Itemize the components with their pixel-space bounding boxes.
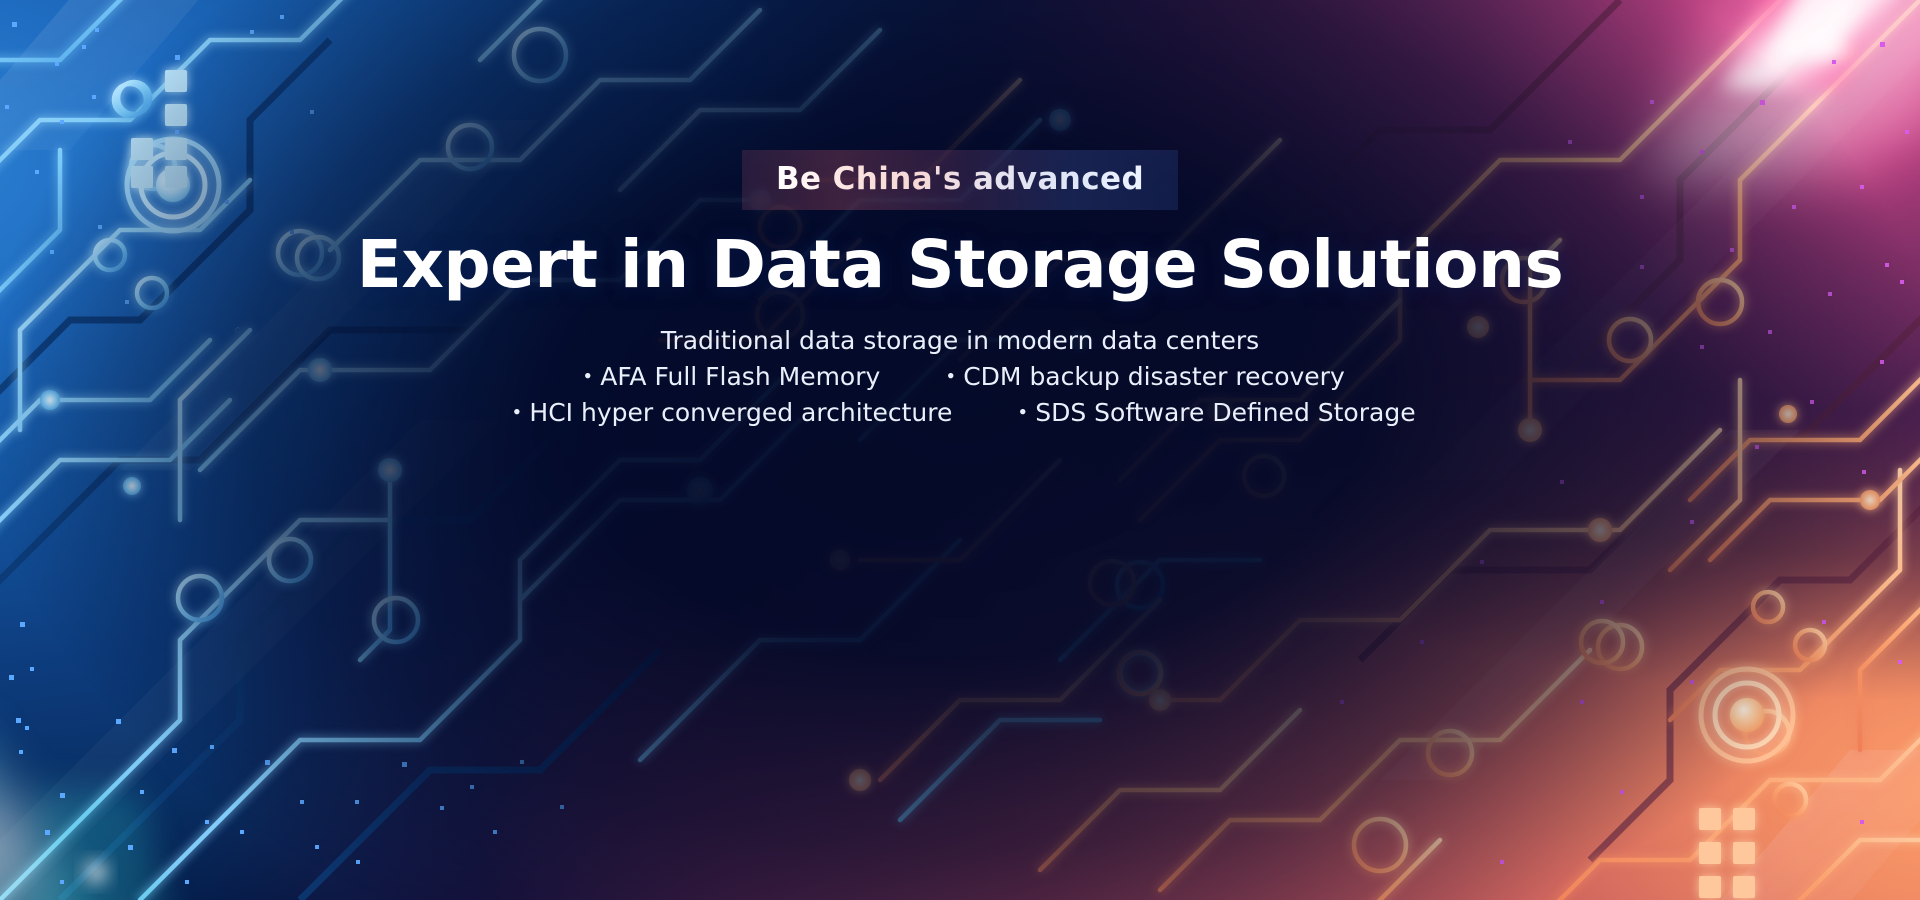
hero-content: Be China's advanced Expert in Data Stora… [0, 150, 1920, 431]
page-title: Expert in Data Storage Solutions [0, 226, 1920, 303]
eyebrow-text: Be China's advanced [776, 161, 1144, 197]
feature-sds: ・SDS Software Defined Storage [1010, 395, 1415, 431]
feature-row-1: ・AFA Full Flash Memory ・CDM backup disas… [0, 359, 1920, 395]
feature-row-2: ・HCI hyper converged architecture ・SDS S… [0, 395, 1920, 431]
feature-hci: ・HCI hyper converged architecture [504, 395, 952, 431]
subtitle-line-1: Traditional data storage in modern data … [0, 323, 1920, 359]
eyebrow-band: Be China's advanced [742, 150, 1178, 210]
right-target-rings [1701, 669, 1793, 761]
hero-banner: Be China's advanced Expert in Data Stora… [0, 0, 1920, 900]
banner-artwork [0, 0, 1920, 900]
feature-afa: ・AFA Full Flash Memory [575, 359, 880, 395]
feature-cdm: ・CDM backup disaster recovery [938, 359, 1345, 395]
subtitle-block: Traditional data storage in modern data … [0, 323, 1920, 431]
